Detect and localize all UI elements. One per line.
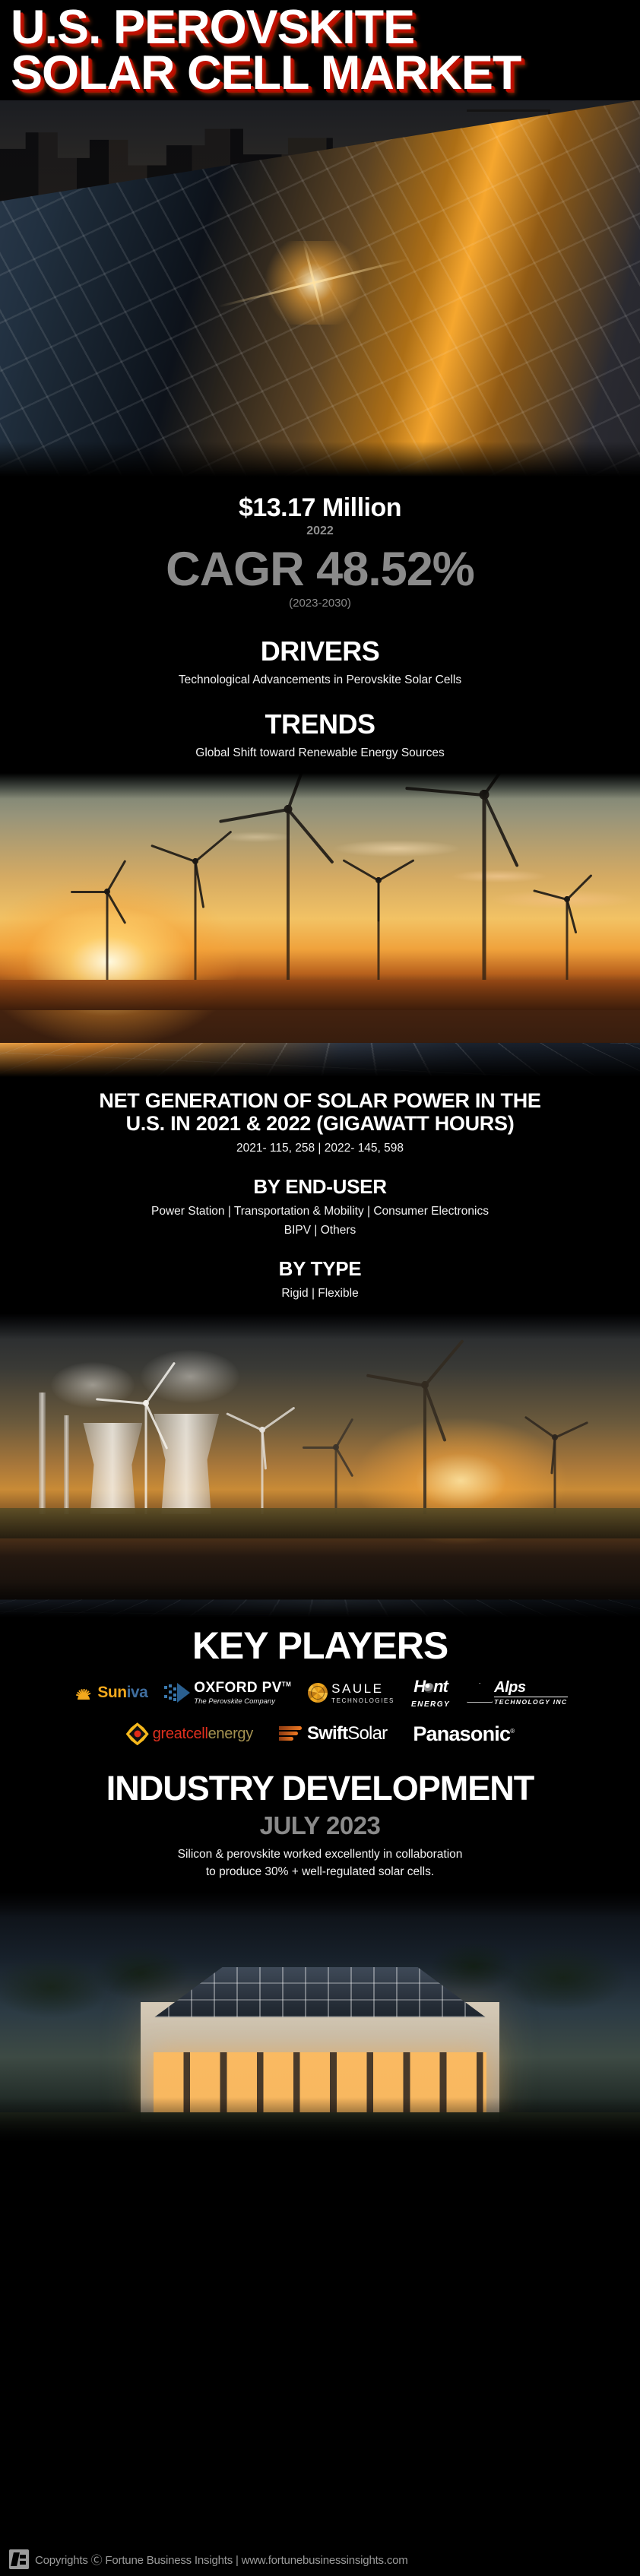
industry-development-line2: to produce 30% + well-regulated solar ce… (0, 1864, 640, 1881)
plant-ground (0, 1508, 640, 1538)
wind-turbine-icon (173, 858, 218, 980)
wind-farm-image (0, 773, 640, 1077)
key-players-row-1: Suniva OXFORD PVTM The Perovskite Compan… (0, 1674, 640, 1712)
wind-ground (0, 980, 640, 1010)
logo-panasonic-text: Panasonic® (413, 1722, 514, 1746)
logo-saule-technologies: SAULE TECHNOLOGIES (308, 1681, 394, 1704)
logo-oxford-pv: OXFORD PVTM The Perovskite Company (164, 1680, 291, 1706)
footer-copyright-text: Copyrights Ⓒ Fortune Business Insights |… (35, 2552, 408, 2568)
market-value: $13.17 Million (0, 493, 640, 523)
logo-suniva-text: Suniva (97, 1684, 147, 1702)
sunburst-icon (72, 1686, 95, 1700)
logo-greatcell-text: greatcellenergy (153, 1725, 253, 1743)
registered-symbol: ® (510, 1728, 514, 1735)
by-type-line1: Rigid | Flexible (0, 1285, 640, 1302)
steam-plume (141, 1350, 239, 1403)
logo-hunt-energy: Hnt ENERGY (411, 1677, 450, 1709)
trends-text: Global Shift toward Renewable Energy Sou… (0, 745, 640, 762)
wind-turbine-icon (359, 877, 398, 980)
market-stats-section: $13.17 Million 2022 CAGR 48.52% (2023-20… (0, 477, 640, 613)
arrow-pixel-icon (164, 1683, 190, 1703)
drivers-text: Technological Advancements in Perovskite… (0, 672, 640, 689)
trends-section: TRENDS Global Shift toward Renewable Ene… (0, 689, 640, 772)
industry-development-section: INDUSTRY DEVELOPMENT JULY 2023 Silicon &… (0, 1749, 640, 1892)
power-plant-image (0, 1313, 640, 1618)
logo-suniva-text-b: iva (127, 1684, 148, 1701)
industry-development-heading: INDUSTRY DEVELOPMENT (0, 1769, 640, 1808)
wind-turbine-icon (397, 1381, 453, 1514)
industry-development-line1: Silicon & perovskite worked excellently … (0, 1846, 640, 1863)
chimney-icon (64, 1415, 69, 1514)
infographic-page: U.S. PEROVSKITE SOLAR CELL MARKET $13.17… (0, 0, 640, 2576)
wind-turbine-icon (243, 1427, 281, 1514)
logo-hunt-tagline: ENERGY (411, 1700, 450, 1709)
hero-sun-glint (257, 241, 371, 325)
logo-greatcell-energy: greatcellenergy (126, 1722, 253, 1745)
chimney-icon (39, 1393, 46, 1514)
logo-swift-solar-text: SwiftSolar (307, 1723, 387, 1744)
logo-oxford-pv-tagline: The Perovskite Company (194, 1697, 275, 1706)
title-line-1: U.S. PEROVSKITE (11, 6, 629, 50)
wind-turbine-icon (448, 790, 521, 980)
logo-alps-name: Alps (494, 1679, 525, 1697)
wind-turbine-icon (320, 1444, 352, 1514)
flame-swoosh-icon (279, 1725, 303, 1743)
footer: Copyrights Ⓒ Fortune Business Insights |… (0, 2543, 640, 2576)
net-generation-heading-line2: U.S. IN 2021 & 2022 (GIGAWATT HOURS) (0, 1112, 640, 1136)
logo-greatcell-text-a: greatcell (153, 1725, 208, 1742)
logo-oxford-pv-name: OXFORD PVTM (194, 1680, 291, 1697)
drivers-section: DRIVERS Technological Advancements in Pe… (0, 613, 640, 689)
key-players-heading: KEY PLAYERS (0, 1624, 640, 1668)
logo-suniva-text-a: Sun (97, 1684, 126, 1701)
drivers-heading: DRIVERS (0, 635, 640, 667)
logo-greatcell-text-b: energy (208, 1725, 253, 1742)
house-lawn (0, 2112, 640, 2143)
logo-swift-solar: SwiftSolar (279, 1723, 387, 1744)
wind-turbine-icon (550, 896, 584, 980)
cagr-period: (2023-2030) (0, 597, 640, 610)
by-type-section: BY TYPE Rigid | Flexible (0, 1239, 640, 1313)
octagon-cell-icon (126, 1722, 149, 1745)
key-players-row-2: greatcellenergy SwiftSolar Panasonic® (0, 1719, 640, 1749)
cagr-value: CAGR 48.52% (0, 546, 640, 594)
logo-panasonic: Panasonic® (413, 1722, 514, 1746)
wind-turbine-icon (90, 889, 125, 980)
logo-alps-tagline: TECHNOLOGY INC (494, 1697, 567, 1706)
title-line-2: SOLAR CELL MARKET (11, 52, 629, 96)
net-generation-values: 2021- 115, 258 | 2022- 145, 598 (0, 1140, 640, 1157)
polygon-sphere-icon (308, 1683, 328, 1703)
logo-saule-name: SAULE (331, 1681, 383, 1697)
logo-hunt-name: Hnt (413, 1677, 448, 1697)
logo-swift-text-a: Swift (307, 1723, 347, 1744)
logo-alps-technology: Alps TECHNOLOGY INC (467, 1679, 567, 1706)
industry-development-date: JULY 2023 (0, 1811, 640, 1840)
wind-turbine-icon (256, 805, 320, 980)
by-end-user-line1: Power Station | Transportation & Mobilit… (0, 1203, 640, 1220)
net-generation-heading-line1: NET GENERATION OF SOLAR POWER IN THE (0, 1089, 640, 1113)
mountain-peak-icon (467, 1683, 493, 1703)
by-end-user-section: BY END-USER Power Station | Transportati… (0, 1157, 640, 1239)
house-lit-windows (154, 2052, 486, 2112)
by-type-heading: BY TYPE (0, 1257, 640, 1281)
key-players-section: KEY PLAYERS Suniva (0, 1618, 640, 1749)
by-end-user-heading: BY END-USER (0, 1175, 640, 1199)
hero-solar-panel-image (0, 100, 640, 477)
wind-turbine-icon (122, 1400, 170, 1514)
fortune-business-insights-logo-icon (9, 2549, 29, 2569)
logo-swift-text-b: Solar (347, 1723, 387, 1744)
net-generation-section: NET GENERATION OF SOLAR POWER IN THE U.S… (0, 1077, 640, 1157)
logo-saule-tagline: TECHNOLOGIES (331, 1697, 394, 1704)
globe-icon (424, 1683, 434, 1693)
trends-heading: TRENDS (0, 708, 640, 740)
market-value-year: 2022 (0, 524, 640, 538)
wind-turbine-icon (537, 1434, 572, 1514)
house-solar-image (0, 1892, 640, 2143)
logo-suniva: Suniva (72, 1684, 147, 1702)
trademark-symbol: TM (282, 1681, 291, 1687)
page-title: U.S. PEROVSKITE SOLAR CELL MARKET (0, 0, 640, 100)
by-end-user-line2: BIPV | Others (0, 1222, 640, 1239)
